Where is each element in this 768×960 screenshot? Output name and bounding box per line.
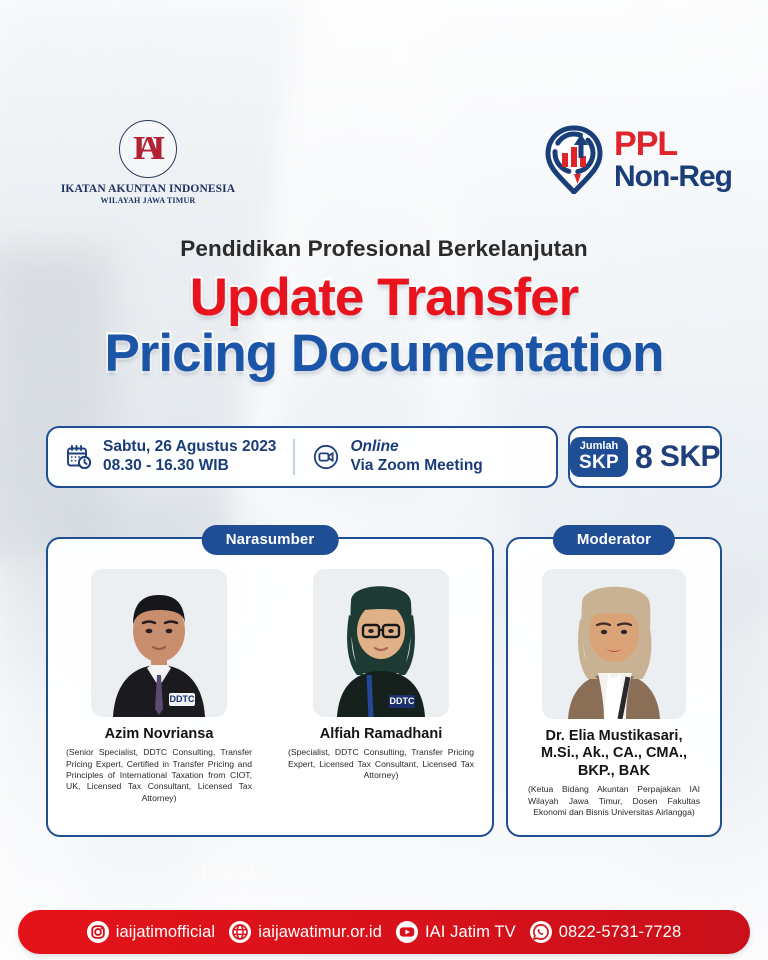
instagram-icon [87,921,109,943]
speaker-name: Azim Novriansa [60,726,258,743]
video-camera-icon [312,443,340,471]
iai-org-region: WILAYAH JAWA TIMUR [48,196,248,205]
event-poster: freepik IAI IKATAN AKUNTAN INDONESIA WIL… [0,0,768,960]
speaker-name: Alfiah Ramadhani [282,726,480,743]
event-date: Sabtu, 26 Agustus 2023 [103,438,276,457]
event-datetime: Sabtu, 26 Agustus 2023 08.30 - 16.30 WIB [48,438,293,476]
speaker-bio: (Specialist, DDTC Consulting, Transfer P… [282,747,480,781]
moderator-panel: Moderator [506,537,722,837]
whatsapp-contact[interactable]: 0822-5731-7728 [530,921,682,943]
youtube-contact[interactable]: IAI Jatim TV [396,921,516,943]
event-info-panel: Sabtu, 26 Agustus 2023 08.30 - 16.30 WIB [46,426,558,488]
poster-header: IAI IKATAN AKUNTAN INDONESIA WILAYAH JAW… [0,120,768,210]
skp-unit: SKP [660,442,720,472]
contact-footer: iaijatimofficial iaijawatimur.or.id [18,910,750,954]
iai-logo: IAI IKATAN AKUNTAN INDONESIA WILAYAH JAW… [48,120,248,205]
globe-icon [229,921,251,943]
ppl-logo: PPL Non-Reg [543,124,732,194]
speaker-card: DDTC Azim Novriansa (Senior Specialist, … [48,539,270,835]
website-url: iaijawatimur.or.id [258,923,382,942]
narasumber-tag: Narasumber [202,525,339,555]
speaker-photo: DDTC [91,569,227,717]
skp-count: 8 [635,441,653,473]
website-contact[interactable]: iaijawatimur.or.id [229,921,382,943]
event-title-line2: Pricing Documentation [0,328,768,380]
youtube-channel: IAI Jatim TV [425,923,516,942]
event-mode: Online Via Zoom Meeting [295,438,499,476]
speaker-card: DDTC Alfiah Ramadhani (Specialist, DDTC … [270,539,492,835]
speaker-bio: (Senior Specialist, DDTC Consulting, Tra… [60,747,258,804]
skp-label-top: Jumlah [579,441,619,452]
narasumber-panel: Narasumber [46,537,494,837]
svg-text:DDTC: DDTC [390,696,415,706]
ppl-chart-arrow-icon [543,124,605,194]
skp-badge: Jumlah SKP 8 SKP [568,426,722,488]
skp-label-bottom: SKP [579,453,619,472]
instagram-handle: iaijatimofficial [116,923,215,942]
event-info-bar: Sabtu, 26 Agustus 2023 08.30 - 16.30 WIB [46,426,722,488]
whatsapp-icon [530,921,552,943]
iai-org-name: IKATAN AKUNTAN INDONESIA [48,183,248,195]
calendar-clock-icon [65,443,93,471]
youtube-icon [396,921,418,943]
ppl-title: PPL [614,127,732,161]
whatsapp-number: 0822-5731-7728 [559,923,682,942]
moderator-photo [542,569,686,719]
event-mode-label: Online [350,438,482,457]
ppl-subtitle: Non-Reg [614,162,732,192]
moderator-tag: Moderator [553,525,675,555]
instagram-contact[interactable]: iaijatimofficial [87,921,215,943]
iai-monogram: IAI [132,132,163,166]
svg-text:DDTC: DDTC [170,694,195,704]
speaker-photo: DDTC [313,569,449,717]
skp-label-pill: Jumlah SKP [570,437,628,477]
iai-emblem-icon: IAI [119,120,177,178]
event-platform: Via Zoom Meeting [350,457,482,476]
event-title-line1: Update Transfer [0,272,768,324]
moderator-bio: (Ketua Bidang Akuntan Perpajakan IAI Wil… [522,784,706,818]
moderator-credentials: M.Si., Ak., CA., CMA., BKP., BAK [522,745,706,780]
speakers-section: Narasumber [46,537,722,837]
moderator-name: Dr. Elia Mustikasari, [522,728,706,745]
event-kicker: Pendidikan Profesional Berkelanjutan [0,236,768,262]
moderator-card: Dr. Elia Mustikasari, M.Si., Ak., CA., C… [508,539,720,828]
event-time: 08.30 - 16.30 WIB [103,457,276,476]
